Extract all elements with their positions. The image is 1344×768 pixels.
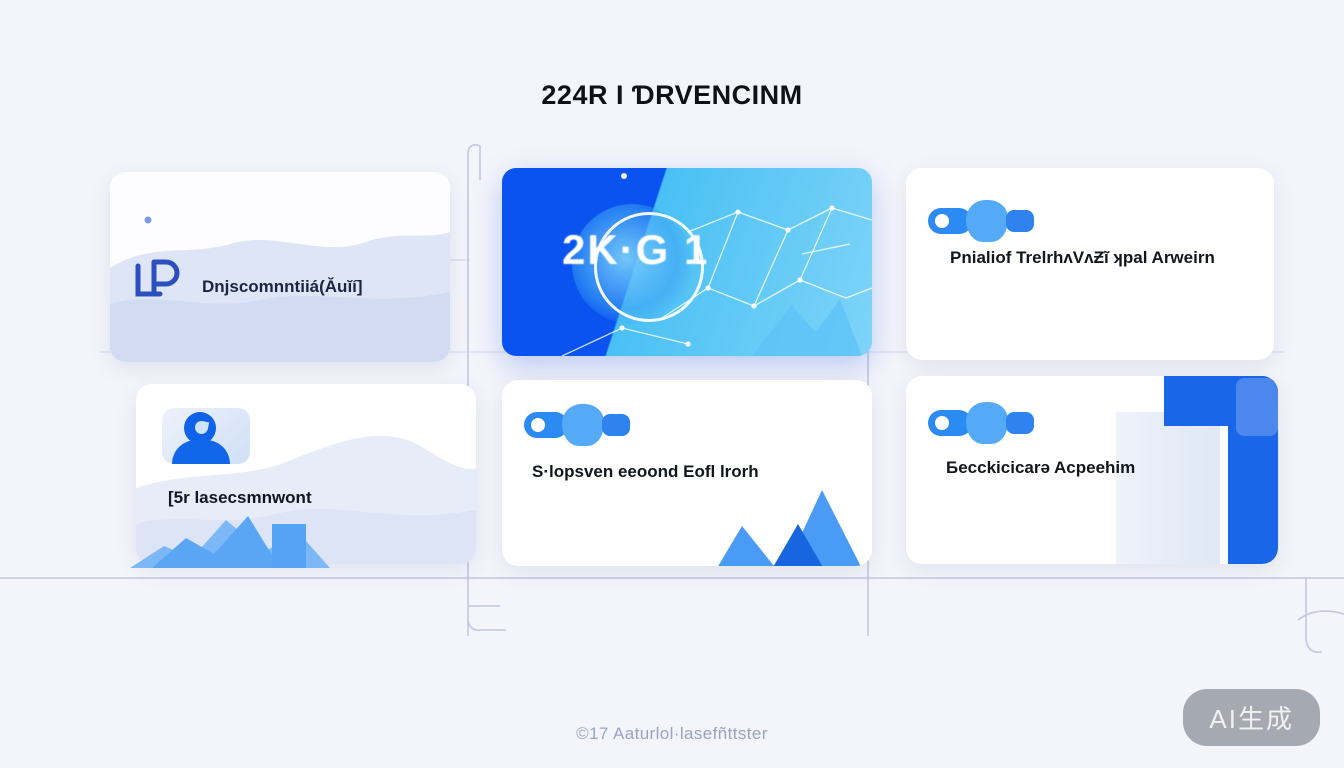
- pill-blob-chip-icon: [524, 404, 622, 444]
- blob-icon: [966, 402, 1008, 444]
- footer-text: ©17 ⁠Aaturlol·lasefñttster: [0, 724, 1344, 744]
- blob-icon: [562, 404, 604, 446]
- card-account[interactable]: [5r lasecsmnwont: [136, 384, 476, 564]
- block-seven-decoration: [1164, 376, 1278, 564]
- card-trend[interactable]: Pnialiof Trelrh⁠ʌVʌƵĩ ʞpal Arweirn: [906, 168, 1274, 360]
- blob-icon: [966, 200, 1008, 242]
- block-panel: [1116, 412, 1220, 564]
- avatar-icon: [162, 408, 250, 464]
- ai-generated-watermark: AI生成: [1183, 689, 1320, 746]
- card-label: S·lopsven eeoond Eofl lrorh: [532, 462, 759, 482]
- card-label: Ƃecckicicarǝ Acpeehim: [946, 458, 1135, 478]
- pill-blob-chip-icon: [928, 402, 1026, 442]
- card-label: [5r lasecsmnwont: [168, 488, 312, 508]
- card-grid: Dnjscomnntiiá(Ăuĭí]: [100, 168, 1280, 580]
- card-label: Pnialiof Trelrh⁠ʌVʌƵĩ ʞpal Arweirn: [950, 246, 1270, 271]
- card-apps[interactable]: Ƃecckicicarǝ Acpeehim: [906, 376, 1278, 564]
- avatar-body: [172, 440, 230, 464]
- block-sheen: [1236, 378, 1278, 436]
- hero-label: 2K·G 1: [562, 226, 822, 274]
- chip-icon: [602, 414, 630, 436]
- chip-icon: [1006, 210, 1034, 232]
- bracket-p-icon: [132, 256, 184, 302]
- card-document[interactable]: Dnjscomnntiiá(Ăuĭí]: [110, 172, 450, 362]
- card-slopes[interactable]: S·lopsven eeoond Eofl lrorh: [502, 380, 872, 566]
- card-label: Dnjscomnntiiá(Ăuĭí]: [202, 277, 363, 297]
- page-title: 2⁠24R I ⁠⁠ƊRVENCINM: [0, 80, 1344, 111]
- page-stage: 2⁠24R I ⁠⁠ƊRVENCINM Dnjscomnntiiá(Ăuĭí]: [0, 0, 1344, 768]
- card-hero[interactable]: 2K·G 1: [502, 168, 872, 356]
- pill-blob-chip-icon: [928, 200, 1026, 240]
- chip-icon: [1006, 412, 1034, 434]
